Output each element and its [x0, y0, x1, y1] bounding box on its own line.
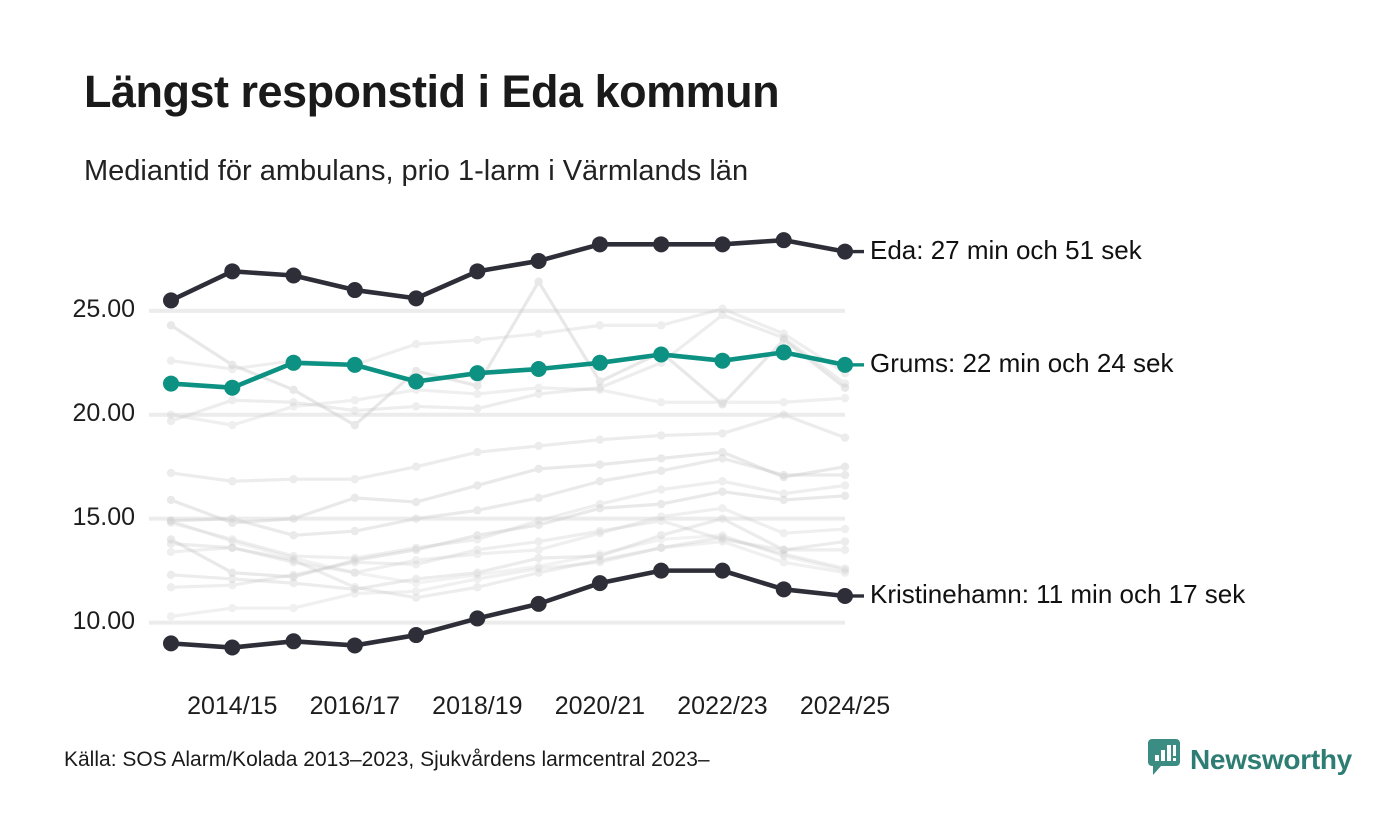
bg-series-kommun-i-point — [534, 521, 542, 529]
bg-series-kommun-k-point — [596, 527, 604, 535]
bg-series-kommun-g-point — [718, 454, 726, 462]
bg-series-kommun-n-point — [351, 583, 359, 591]
bg-series-kommun-e-point — [167, 469, 175, 477]
bg-series-kommun-h-point — [718, 477, 726, 485]
bg-series-kommun-f-point — [289, 514, 297, 522]
bg-series-kommun-e — [167, 411, 849, 486]
bg-series-kommun-k-point — [289, 571, 297, 579]
bg-series-kommun-b-point — [657, 321, 665, 329]
series-eda-point — [347, 282, 363, 298]
chart-page: Längst responstid i Eda kommun Mediantid… — [0, 0, 1400, 840]
bg-series-kommun-o-point — [718, 531, 726, 539]
bg-series-kommun-o-point — [167, 517, 175, 525]
bg-series-kommun-o-point — [534, 562, 542, 570]
bg-series-kommun-o-point — [780, 552, 788, 560]
bg-series-kommun-i-point — [841, 492, 849, 500]
series-grums-point — [286, 355, 302, 371]
bg-series-kommun-l-point — [718, 514, 726, 522]
series-kristinehamn-point — [469, 610, 485, 626]
bg-series-kommun-i-point — [718, 487, 726, 495]
bg-series-kommun-d-point — [534, 384, 542, 392]
bg-series-kommun-o-point — [596, 550, 604, 558]
bg-series-kommun-a-point — [534, 278, 542, 286]
bg-series-kommun-a-point — [289, 386, 297, 394]
series-grums-point — [408, 373, 424, 389]
bg-series-kommun-c-point — [718, 311, 726, 319]
bg-series-kommun-e-point — [780, 411, 788, 419]
bg-series-kommun-c-point — [351, 406, 359, 414]
series-kristinehamn-point — [653, 563, 669, 579]
bg-series-kommun-g-point — [351, 527, 359, 535]
bg-series-kommun-k-point — [534, 537, 542, 545]
series-eda — [163, 232, 853, 308]
bg-series-kommun-b-point — [596, 321, 604, 329]
x-axis-label-2014-15: 2014/15 — [187, 692, 277, 721]
series-eda-point — [653, 236, 669, 252]
series-label-grums: Grums: 22 min och 24 sek — [870, 348, 1173, 379]
bg-series-kommun-a — [167, 278, 849, 430]
bg-series-kommun-d-point — [473, 390, 481, 398]
y-axis-label-20.00: 20.00 — [0, 399, 135, 428]
source-note: Källa: SOS Alarm/Kolada 2013–2023, Sjukv… — [64, 748, 710, 772]
bg-series-kommun-f-point — [412, 498, 420, 506]
series-kristinehamn-point — [163, 635, 179, 651]
bg-series-kommun-a-point — [351, 421, 359, 429]
bg-series-kommun-i-point — [473, 531, 481, 539]
bg-series-kommun-g-point — [289, 531, 297, 539]
bg-series-kommun-g — [167, 454, 849, 539]
bg-series-kommun-i-point — [657, 500, 665, 508]
series-grums — [163, 344, 853, 395]
series-kristinehamn-point — [714, 563, 730, 579]
bg-series-kommun-k-point — [351, 558, 359, 566]
newsworthy-wordmark: Newsworthy — [1190, 744, 1352, 776]
bg-series-kommun-o-point — [412, 579, 420, 587]
bg-series-kommun-j-point — [167, 548, 175, 556]
bg-series-kommun-d-path — [171, 388, 845, 425]
series-grums-point — [531, 361, 547, 377]
series-grums-point — [714, 353, 730, 369]
bg-series-kommun-o-point — [841, 566, 849, 574]
bg-series-kommun-c — [167, 311, 849, 425]
series-eda-point — [837, 244, 853, 260]
bg-series-kommun-k-point — [473, 546, 481, 554]
bg-series-kommun-d-point — [167, 411, 175, 419]
bg-series-kommun-d-point — [841, 394, 849, 402]
series-kristinehamn-point — [837, 588, 853, 604]
bg-series-kommun-o-point — [657, 535, 665, 543]
series-eda-point — [163, 292, 179, 308]
series-grums-point — [469, 365, 485, 381]
bg-series-kommun-k-point — [657, 517, 665, 525]
bg-series-kommun-c-point — [228, 396, 236, 404]
series-grums-point — [776, 344, 792, 360]
bg-series-kommun-g-path — [171, 458, 845, 535]
bg-series-kommun-f-point — [841, 463, 849, 471]
bg-series-kommun-f-point — [657, 454, 665, 462]
bg-series-kommun-j-point — [841, 525, 849, 533]
bg-series-kommun-d-point — [596, 386, 604, 394]
bg-series-kommun-e-point — [228, 477, 236, 485]
bg-series-kommun-a-point — [167, 321, 175, 329]
bg-series-kommun-e-point — [289, 475, 297, 483]
series-grums-point — [592, 355, 608, 371]
bg-series-kommun-l-point — [228, 575, 236, 583]
bg-series-kommun-g-point — [473, 506, 481, 514]
bg-series-kommun-d-point — [351, 396, 359, 404]
bg-series-kommun-d-point — [289, 402, 297, 410]
bg-series-kommun-g-point — [412, 514, 420, 522]
bg-series-kommun-n-point — [473, 583, 481, 591]
y-axis-label-10.00: 10.00 — [0, 607, 135, 636]
x-axis-label-2020-21: 2020/21 — [555, 692, 645, 721]
bg-series-kommun-i-point — [780, 496, 788, 504]
bg-series-kommun-l-point — [289, 579, 297, 587]
bg-series-kommun-l-point — [167, 571, 175, 579]
series-label-kristinehamn: Kristinehamn: 11 min och 17 sek — [870, 579, 1245, 610]
bg-series-kommun-e-point — [841, 433, 849, 441]
x-axis-label-2016-17: 2016/17 — [310, 692, 400, 721]
bg-series-kommun-b — [167, 305, 849, 378]
series-eda-point — [714, 236, 730, 252]
bg-series-kommun-a-point — [473, 381, 481, 389]
bg-series-kommun-e-point — [473, 448, 481, 456]
bg-series-kommun-e-point — [351, 475, 359, 483]
bg-series-kommun-l-point — [841, 537, 849, 545]
series-kristinehamn-point — [531, 596, 547, 612]
bg-series-kommun-o-point — [289, 554, 297, 562]
bg-series-kommun-e-point — [718, 429, 726, 437]
line-chart: 10.0015.0020.0025.00 2014/152016/172018/… — [0, 0, 1400, 840]
series-grums-point — [347, 357, 363, 373]
bg-series-kommun-h-point — [657, 485, 665, 493]
series-kristinehamn-point — [347, 637, 363, 653]
bg-series-kommun-f-point — [473, 481, 481, 489]
bg-series-kommun-k-point — [412, 560, 420, 568]
series-eda-point — [592, 236, 608, 252]
bg-series-kommun-d-point — [780, 398, 788, 406]
bg-series-kommun-j-point — [534, 546, 542, 554]
series-grums-point — [163, 376, 179, 392]
bg-series-kommun-o-point — [351, 569, 359, 577]
bg-series-kommun-g-point — [657, 467, 665, 475]
bg-series-kommun-g-point — [841, 471, 849, 479]
series-eda-point — [224, 263, 240, 279]
x-axis-label-2018-19: 2018/19 — [432, 692, 522, 721]
series-eda-point — [776, 232, 792, 248]
bg-series-kommun-n-point — [412, 593, 420, 601]
bg-series-kommun-b-point — [167, 357, 175, 365]
bg-series-kommun-n-point — [167, 539, 175, 547]
newsworthy-bubble-chart-icon — [1147, 738, 1181, 781]
bg-series-kommun-i-point — [596, 504, 604, 512]
bg-series-kommun-f-point — [534, 465, 542, 473]
x-axis-label-2022-23: 2022/23 — [677, 692, 767, 721]
bg-series-kommun-g-point — [596, 477, 604, 485]
series-kristinehamn-point — [408, 627, 424, 643]
bg-series-kommun-c-point — [841, 379, 849, 387]
bg-series-kommun-e-path — [171, 415, 845, 482]
bg-series-kommun-c-point — [473, 404, 481, 412]
bg-series-kommun-e-point — [657, 431, 665, 439]
bg-series-kommun-o-point — [473, 571, 481, 579]
bg-series-kommun-b-path — [171, 309, 845, 373]
series-grums-point — [224, 380, 240, 396]
series-eda-point — [531, 253, 547, 269]
series-kristinehamn-point — [776, 581, 792, 597]
series-kristinehamn-point — [286, 633, 302, 649]
bg-series-kommun-m-point — [289, 604, 297, 612]
y-axis-label-25.00: 25.00 — [0, 295, 135, 324]
bg-series-kommun-e-point — [412, 463, 420, 471]
series-eda-point — [469, 263, 485, 279]
bg-series-kommun-o-point — [228, 537, 236, 545]
series-kristinehamn-point — [224, 640, 240, 656]
bg-series-kommun-f-point — [596, 460, 604, 468]
bg-series-kommun-c-point — [780, 334, 788, 342]
bg-series-kommun-e-point — [534, 442, 542, 450]
series-grums-point — [653, 346, 669, 362]
bg-series-kommun-g-point — [228, 514, 236, 522]
series-eda-point — [408, 290, 424, 306]
bg-series-kommun-e-point — [596, 435, 604, 443]
bg-series-kommun-i-point — [412, 546, 420, 554]
bg-series-kommun-d-point — [718, 398, 726, 406]
bg-series-kommun-b-point — [534, 329, 542, 337]
bg-series-kommun-j-point — [780, 529, 788, 537]
series-kristinehamn-point — [592, 575, 608, 591]
bg-series-kommun-m-point — [228, 604, 236, 612]
bg-series-kommun-b-point — [473, 336, 481, 344]
bg-series-kommun-l-point — [534, 554, 542, 562]
y-axis-label-15.00: 15.00 — [0, 503, 135, 532]
bg-series-kommun-d-point — [657, 398, 665, 406]
bg-series-kommun-c-point — [412, 402, 420, 410]
series-eda-point — [286, 267, 302, 283]
newsworthy-logo: Newsworthy — [1147, 738, 1352, 781]
bg-series-kommun-b-point — [412, 340, 420, 348]
bg-series-kommun-g-point — [780, 471, 788, 479]
bg-series-kommun-k-point — [167, 583, 175, 591]
bg-series-kommun-m-point — [167, 612, 175, 620]
bg-series-kommun-n-point — [657, 544, 665, 552]
bg-series-kommun-f-point — [167, 496, 175, 504]
series-grums-point — [837, 357, 853, 373]
series-eda-path — [171, 240, 845, 300]
bg-series-kommun-h-point — [841, 481, 849, 489]
bg-series-kommun-f-point — [351, 494, 359, 502]
series-label-eda: Eda: 27 min och 51 sek — [870, 235, 1142, 266]
bg-series-kommun-b-point — [228, 365, 236, 373]
x-axis-label-2024-25: 2024/25 — [800, 692, 890, 721]
bg-series-kommun-k-point — [841, 546, 849, 554]
bg-series-kommun-j-point — [718, 504, 726, 512]
bg-series-kommun-d-point — [228, 421, 236, 429]
bg-series-kommun-g-point — [534, 494, 542, 502]
bg-series-kommun-d — [167, 384, 849, 430]
